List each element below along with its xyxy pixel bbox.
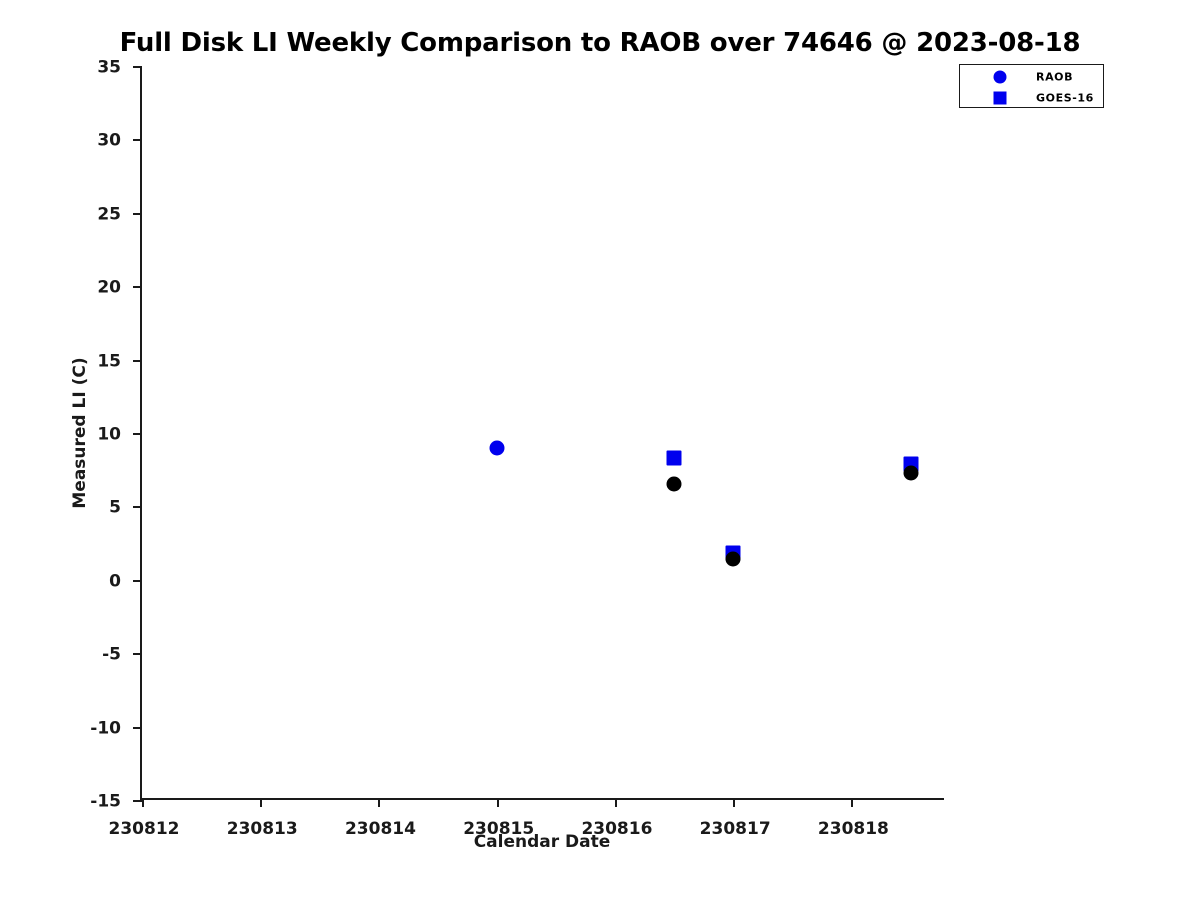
y-axis-tick-label: -10 <box>90 720 121 737</box>
y-axis-tick-label: -5 <box>102 647 121 664</box>
y-axis-tick: 25 <box>133 213 142 215</box>
legend-circle-icon <box>994 71 1007 84</box>
y-axis-tick: 20 <box>133 286 142 288</box>
y-axis-tick-label: 30 <box>97 133 121 150</box>
x-axis-title: Calendar Date <box>140 832 944 852</box>
y-axis-tick: -5 <box>133 653 142 655</box>
y-axis-tick-label: 10 <box>97 427 121 444</box>
x-axis-tick: 230814 <box>378 798 380 807</box>
y-axis-tick-label: 35 <box>97 60 121 77</box>
y-axis-tick: 15 <box>133 360 142 362</box>
y-axis-tick-label: 20 <box>97 280 121 297</box>
y-axis-tick: 0 <box>133 580 142 582</box>
y-axis-tick-label: 0 <box>109 573 121 590</box>
data-point <box>667 450 682 465</box>
x-axis-tick: 230813 <box>260 798 262 807</box>
data-point <box>903 465 918 480</box>
y-axis-tick: 35 <box>133 66 142 68</box>
legend-item[interactable]: RAOB <box>960 66 1103 88</box>
y-axis-tick: -10 <box>133 727 142 729</box>
chart-title: Full Disk LI Weekly Comparison to RAOB o… <box>0 28 1200 58</box>
x-axis-tick: 230812 <box>142 798 144 807</box>
y-axis-tick-label: 5 <box>109 500 121 517</box>
legend-item-label: RAOB <box>1036 71 1073 84</box>
y-axis-tick: 5 <box>133 506 142 508</box>
x-axis-tick: 230815 <box>497 798 499 807</box>
y-axis-tick-label: 25 <box>97 206 121 223</box>
y-axis-tick: -15 <box>133 800 142 802</box>
chart-canvas: Full Disk LI Weekly Comparison to RAOB o… <box>0 0 1200 900</box>
y-axis-tick-label: 15 <box>97 353 121 370</box>
plot-area: 35302520151050-5-10-15 23081223081323081… <box>140 66 944 800</box>
legend-item[interactable]: GOES-16 <box>960 87 1103 109</box>
y-axis-tick: 10 <box>133 433 142 435</box>
legend-item-label: GOES-16 <box>1036 92 1094 105</box>
y-axis-title: Measured LI (C) <box>70 66 90 800</box>
x-axis-tick: 230818 <box>851 798 853 807</box>
legend-square-icon <box>994 92 1007 105</box>
y-axis-tick: 30 <box>133 139 142 141</box>
y-axis-tick-label: -15 <box>90 794 121 811</box>
x-axis-tick: 230816 <box>615 798 617 807</box>
data-point <box>726 552 741 567</box>
legend: RAOBGOES-16 <box>959 64 1104 108</box>
data-point <box>489 440 504 455</box>
x-axis-tick: 230817 <box>733 798 735 807</box>
data-point <box>667 477 682 492</box>
